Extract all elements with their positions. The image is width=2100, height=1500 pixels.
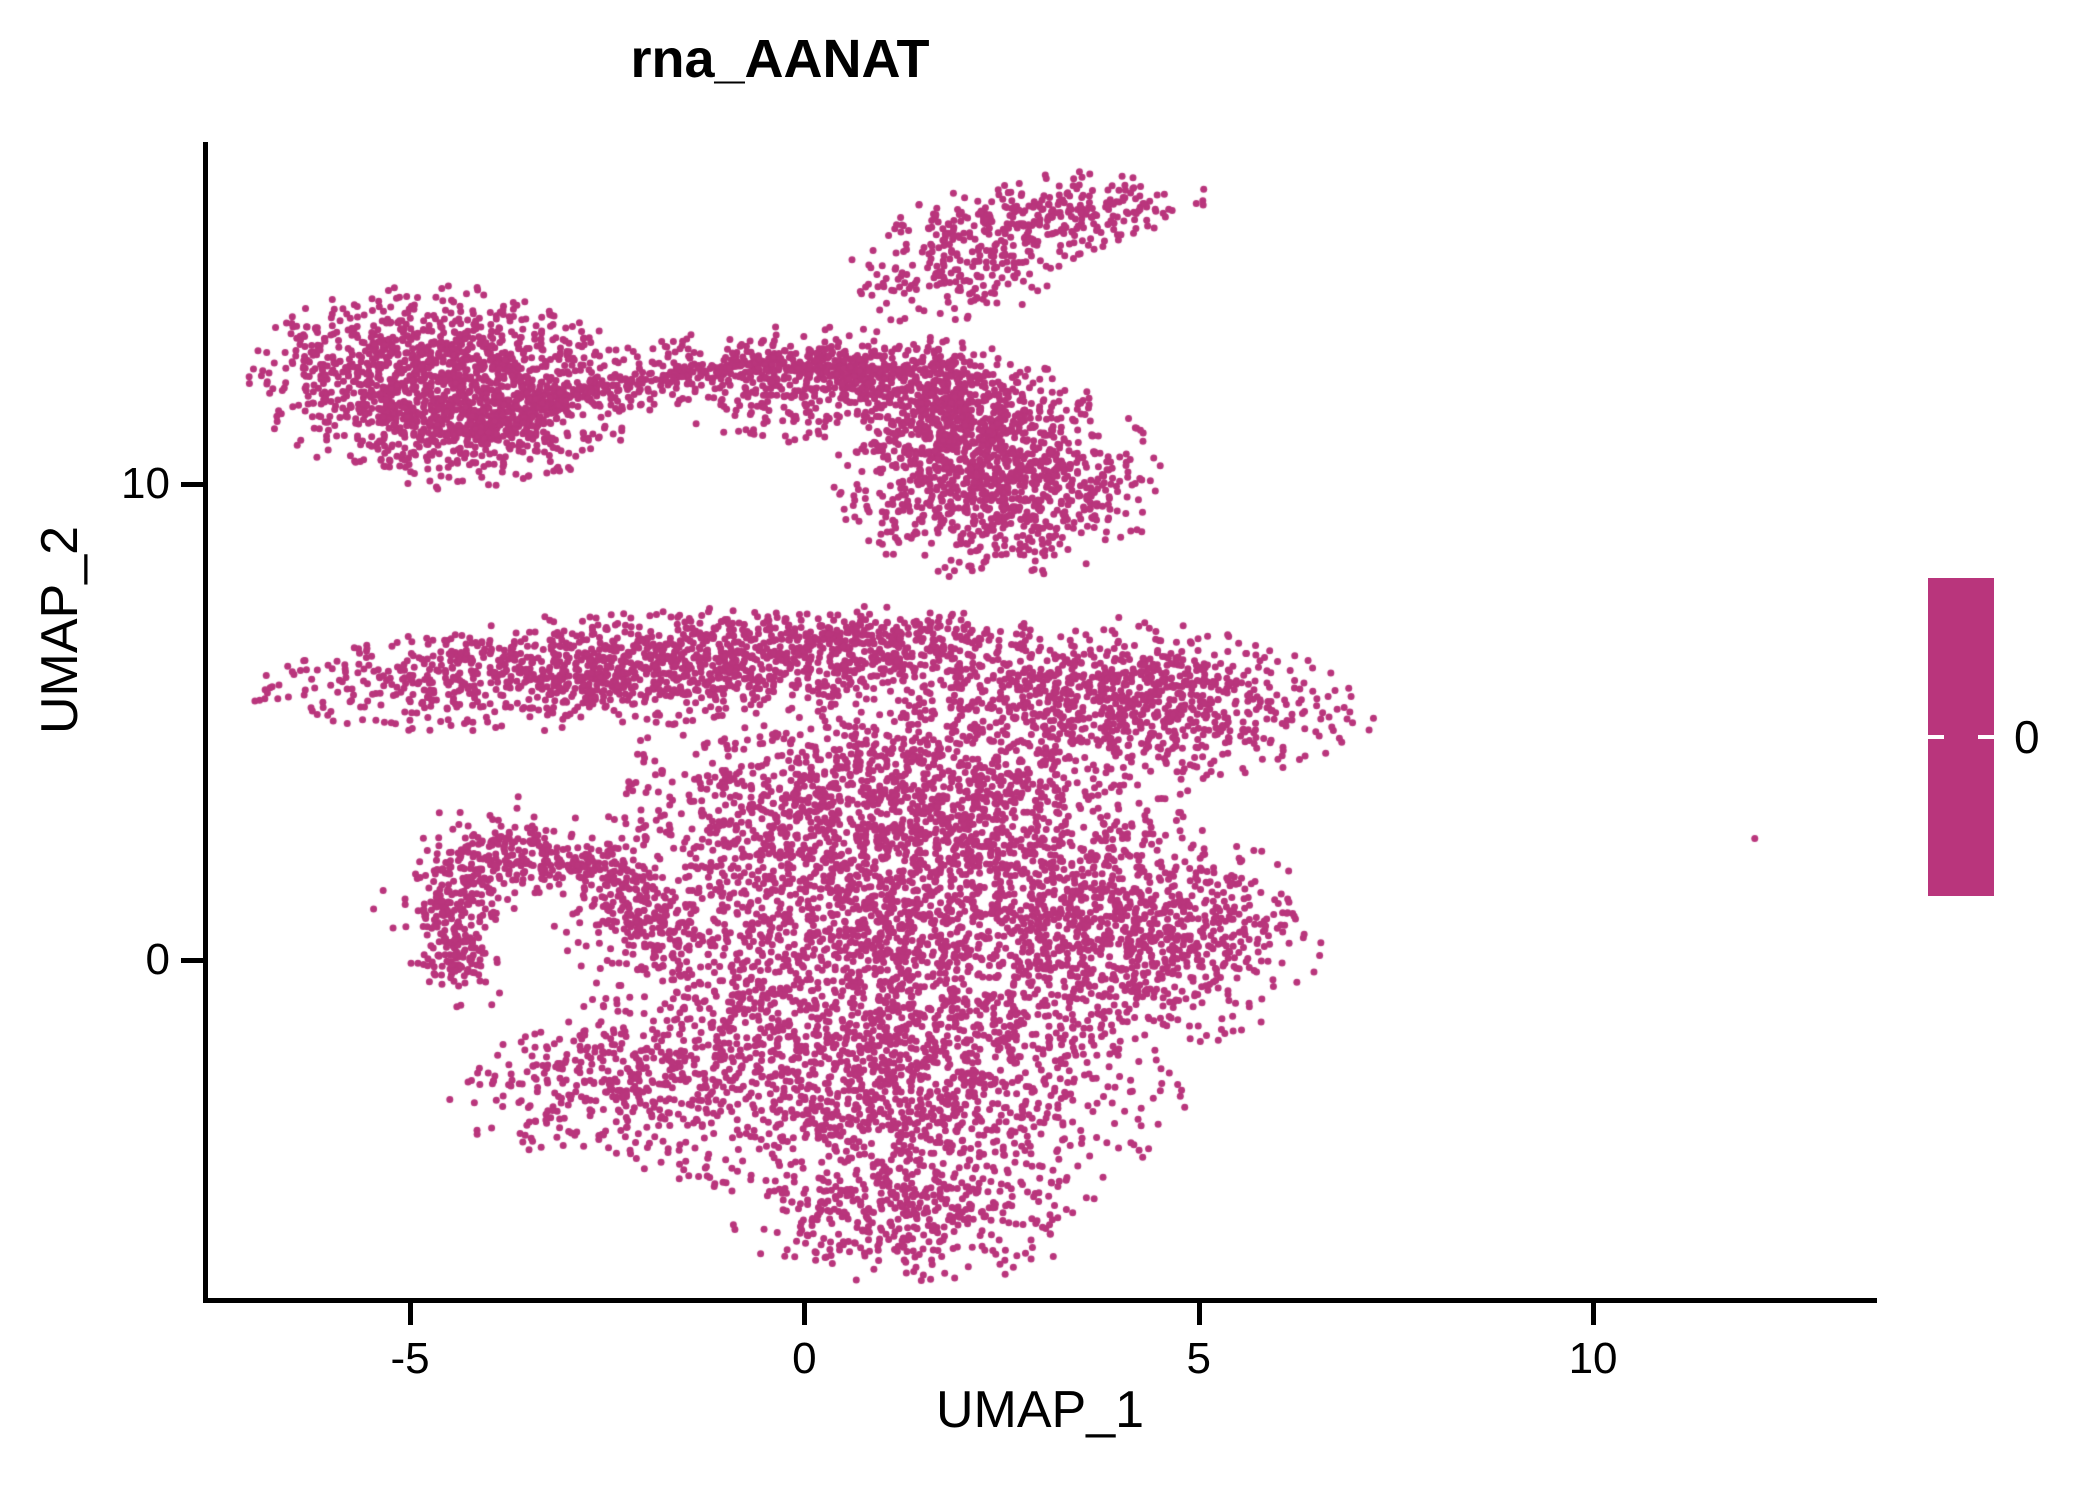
x-tick-label: -5 <box>390 1334 429 1384</box>
scatter-points-layer <box>205 142 1877 1302</box>
y-tick-mark <box>181 958 203 963</box>
color-legend: 0 <box>1928 578 1994 896</box>
umap-feature-plot-figure: rna_AANAT 010 -50510 UMAP_2 UMAP_1 0 <box>0 0 2100 1500</box>
x-tick-mark <box>1197 1303 1202 1325</box>
x-tick-mark <box>1591 1303 1596 1325</box>
x-axis-line <box>203 1298 1877 1303</box>
colorbar-tick-left <box>1928 735 1944 739</box>
x-tick-mark <box>802 1303 807 1325</box>
page-title: rna_AANAT <box>0 28 1560 90</box>
x-tick-mark <box>408 1303 413 1325</box>
y-axis-label: UMAP_2 <box>30 330 90 930</box>
x-tick-label: 0 <box>792 1334 816 1384</box>
y-tick-label: 10 <box>121 459 170 509</box>
y-tick-mark <box>181 482 203 487</box>
y-tick-label: 0 <box>146 935 170 985</box>
x-tick-label: 5 <box>1186 1334 1210 1384</box>
x-axis-label: UMAP_1 <box>203 1380 1877 1440</box>
colorbar-tick-right <box>1978 735 1994 739</box>
colorbar-tick-label: 0 <box>2014 710 2040 764</box>
x-tick-label: 10 <box>1569 1334 1618 1384</box>
plot-panel <box>205 142 1877 1302</box>
y-axis-line <box>203 142 208 1302</box>
